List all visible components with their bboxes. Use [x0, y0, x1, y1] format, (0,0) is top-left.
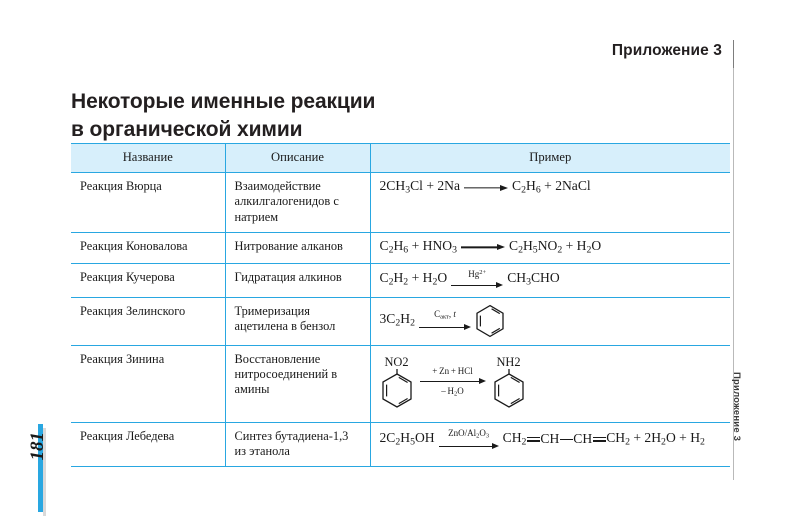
arrow-shaft-icon — [439, 442, 499, 451]
reaction-arrow-with-catalyst: Hg2+ — [451, 270, 503, 290]
reaction-description: Нитрование алканов — [225, 232, 370, 264]
reaction-name: Реакция Коновалова — [71, 232, 225, 264]
nitro-group-label: NO2 — [380, 356, 414, 368]
table-row: Реакция Зинина Восстановление нитросоеди… — [71, 345, 730, 422]
reactions-table: Название Описание Пример Реакция Вюрца В… — [71, 143, 730, 467]
reaction-example: NO2 + Zn + HCl — [370, 345, 730, 422]
formula-products: CH2 + 2H2O + H2 — [606, 431, 705, 449]
formula-kucherov: C2H2 + H2O Hg2+ CH3CHO — [380, 270, 722, 290]
column-header-name: Название — [71, 144, 225, 173]
aniline-structure: NH2 — [492, 356, 526, 409]
page-canvas: Приложение 3 Приложение 3 181 Некоторые … — [0, 0, 794, 517]
reaction-example: 2C2H5OH ZnO/Al2O3 CH2CHCHCH2 + 2H2O + H2 — [370, 423, 730, 467]
page-title-line-1: Некоторые именные реакции — [71, 88, 631, 116]
arrow-shaft-icon — [420, 377, 486, 386]
column-header-example: Пример — [370, 144, 730, 173]
benzene-structure — [475, 304, 505, 338]
reaction-name: Реакция Лебедева — [71, 423, 225, 467]
reactions-table-wrapper: Название Описание Пример Реакция Вюрца В… — [71, 143, 730, 467]
double-bond-icon — [593, 435, 606, 444]
formula-products: C2H6 + 2NaCl — [512, 179, 591, 197]
benzene-ring-icon — [475, 304, 505, 338]
reaction-arrow-with-reagents: + Zn + HCl – H2O — [420, 367, 486, 399]
reaction-description: Гидратация алкинов — [225, 264, 370, 298]
reaction-description: Восстановление нитросоединений в амины — [225, 345, 370, 422]
reaction-name: Реакция Вюрца — [71, 173, 225, 232]
formula-reactants: C2H2 + H2O — [380, 271, 448, 289]
byproduct-label: – H2O — [420, 387, 486, 398]
table-row: Реакция Кучерова Гидратация алкинов C2H2… — [71, 264, 730, 298]
reaction-name: Реакция Зинина — [71, 345, 225, 422]
reaction-arrow-with-catalyst: Cакт, t — [419, 310, 471, 331]
reaction-example: 2CH3Cl + 2Na C2H6 + 2NaCl — [370, 173, 730, 232]
formula-lebedev: 2C2H5OH ZnO/Al2O3 CH2CHCHCH2 + 2H2O + H2 — [380, 429, 722, 450]
reagents-label: + Zn + HCl — [420, 367, 486, 376]
side-tab-label: Приложение 3 — [731, 372, 742, 441]
table-row: Реакция Вюрца Взаимодействие алкилгалоге… — [71, 173, 730, 232]
table-row: Реакция Зелинского Тримеризация ацетилен… — [71, 297, 730, 345]
catalyst-label: Cакт, t — [419, 310, 471, 321]
table-row: Реакция Лебедева Синтез бутадиена-1,3 из… — [71, 423, 730, 467]
page-title-line-2: в органической химии — [71, 116, 631, 144]
arrow-shaft-icon — [419, 323, 471, 332]
page-title: Некоторые именные реакции в органической… — [71, 88, 631, 144]
formula-products: CH — [540, 432, 559, 447]
catalyst-label: ZnO/Al2O3 — [439, 429, 499, 440]
catalyst-label: Hg2+ — [451, 270, 503, 280]
amino-group-label: NH2 — [492, 356, 526, 368]
formula-products: C2H5NO2 + H2O — [509, 239, 601, 257]
formula-reactants: 2C2H5OH — [380, 431, 435, 449]
formula-reactants: C2H6 + HNO3 — [380, 239, 458, 257]
single-bond-icon — [560, 435, 573, 444]
reaction-example: C2H2 + H2O Hg2+ CH3CHO — [370, 264, 730, 298]
reaction-arrow-icon — [464, 183, 508, 193]
table-body: Реакция Вюрца Взаимодействие алкилгалоге… — [71, 173, 730, 467]
reaction-name: Реакция Кучерова — [71, 264, 225, 298]
reaction-description: Взаимодействие алкилгалогенидов с натрие… — [225, 173, 370, 232]
formula-products: CH2 — [503, 431, 527, 449]
table-header-row: Название Описание Пример — [71, 144, 730, 173]
formula-products: CH — [573, 432, 592, 447]
formula-zelinsky: 3C2H2 Cакт, t — [380, 304, 722, 338]
reaction-arrow-with-catalyst: ZnO/Al2O3 — [439, 429, 499, 450]
benzene-ring-icon — [380, 369, 414, 409]
formula-reactants: 3C2H2 — [380, 312, 415, 330]
formula-wurtz: 2CH3Cl + 2Na C2H6 + 2NaCl — [380, 179, 722, 197]
formula-products: CH3CHO — [507, 271, 559, 289]
arrow-shaft-icon — [451, 281, 503, 290]
formula-reactants: 2CH3Cl + 2Na — [380, 179, 461, 197]
running-head-divider — [733, 40, 734, 68]
page-number: 181 — [27, 432, 49, 461]
reaction-arrow-icon — [461, 242, 505, 252]
table-header: Название Описание Пример — [71, 144, 730, 173]
reaction-description: Тримеризация ацетилена в бензол — [225, 297, 370, 345]
reaction-example: C2H6 + HNO3 C2H5NO2 + H2O — [370, 232, 730, 264]
formula-konovalov: C2H6 + HNO3 C2H5NO2 + H2O — [380, 239, 722, 257]
table-row: Реакция Коновалова Нитрование алканов C2… — [71, 232, 730, 264]
reaction-example: 3C2H2 Cакт, t — [370, 297, 730, 345]
reaction-description: Синтез бутадиена-1,3 из этанола — [225, 423, 370, 467]
nitrobenzene-structure: NO2 — [380, 356, 414, 409]
formula-zinin: NO2 + Zn + HCl — [380, 352, 722, 415]
reaction-name: Реакция Зелинского — [71, 297, 225, 345]
double-bond-icon — [527, 435, 540, 444]
running-head: Приложение 3 — [470, 42, 734, 60]
benzene-ring-icon — [492, 369, 526, 409]
column-header-description: Описание — [225, 144, 370, 173]
